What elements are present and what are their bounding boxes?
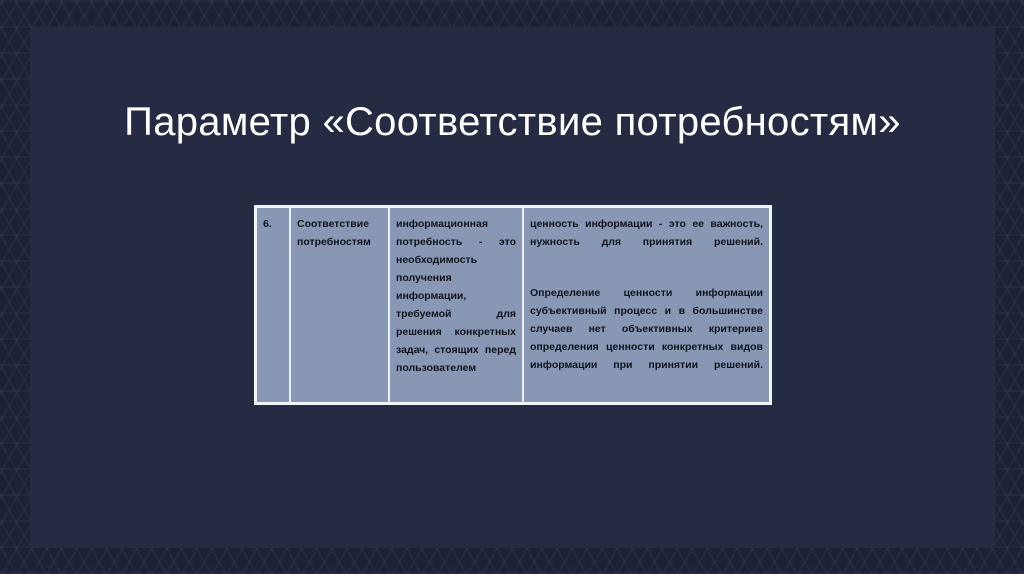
description-paragraph-2: Определение ценности информации субъекти… [530, 284, 763, 392]
table-row: 6. Соответствие потребностям информацион… [257, 208, 769, 402]
slide-decorative-frame: Параметр «Соответствие потребностям» 6. … [0, 0, 1024, 574]
content-table: 6. Соответствие потребностям информацион… [254, 205, 772, 405]
description-paragraph-1: ценность информации - это ее важность, н… [530, 215, 763, 269]
slide-panel: Параметр «Соответствие потребностям» 6. … [30, 27, 995, 548]
table-cell-definition: информационная потребность - это необход… [390, 208, 524, 402]
table-cell-description: ценность информации - это ее важность, н… [524, 208, 769, 402]
table-cell-number: 6. [257, 208, 291, 402]
page-title: Параметр «Соответствие потребностям» [30, 97, 995, 147]
table-cell-parameter: Соответствие потребностям [291, 208, 390, 402]
